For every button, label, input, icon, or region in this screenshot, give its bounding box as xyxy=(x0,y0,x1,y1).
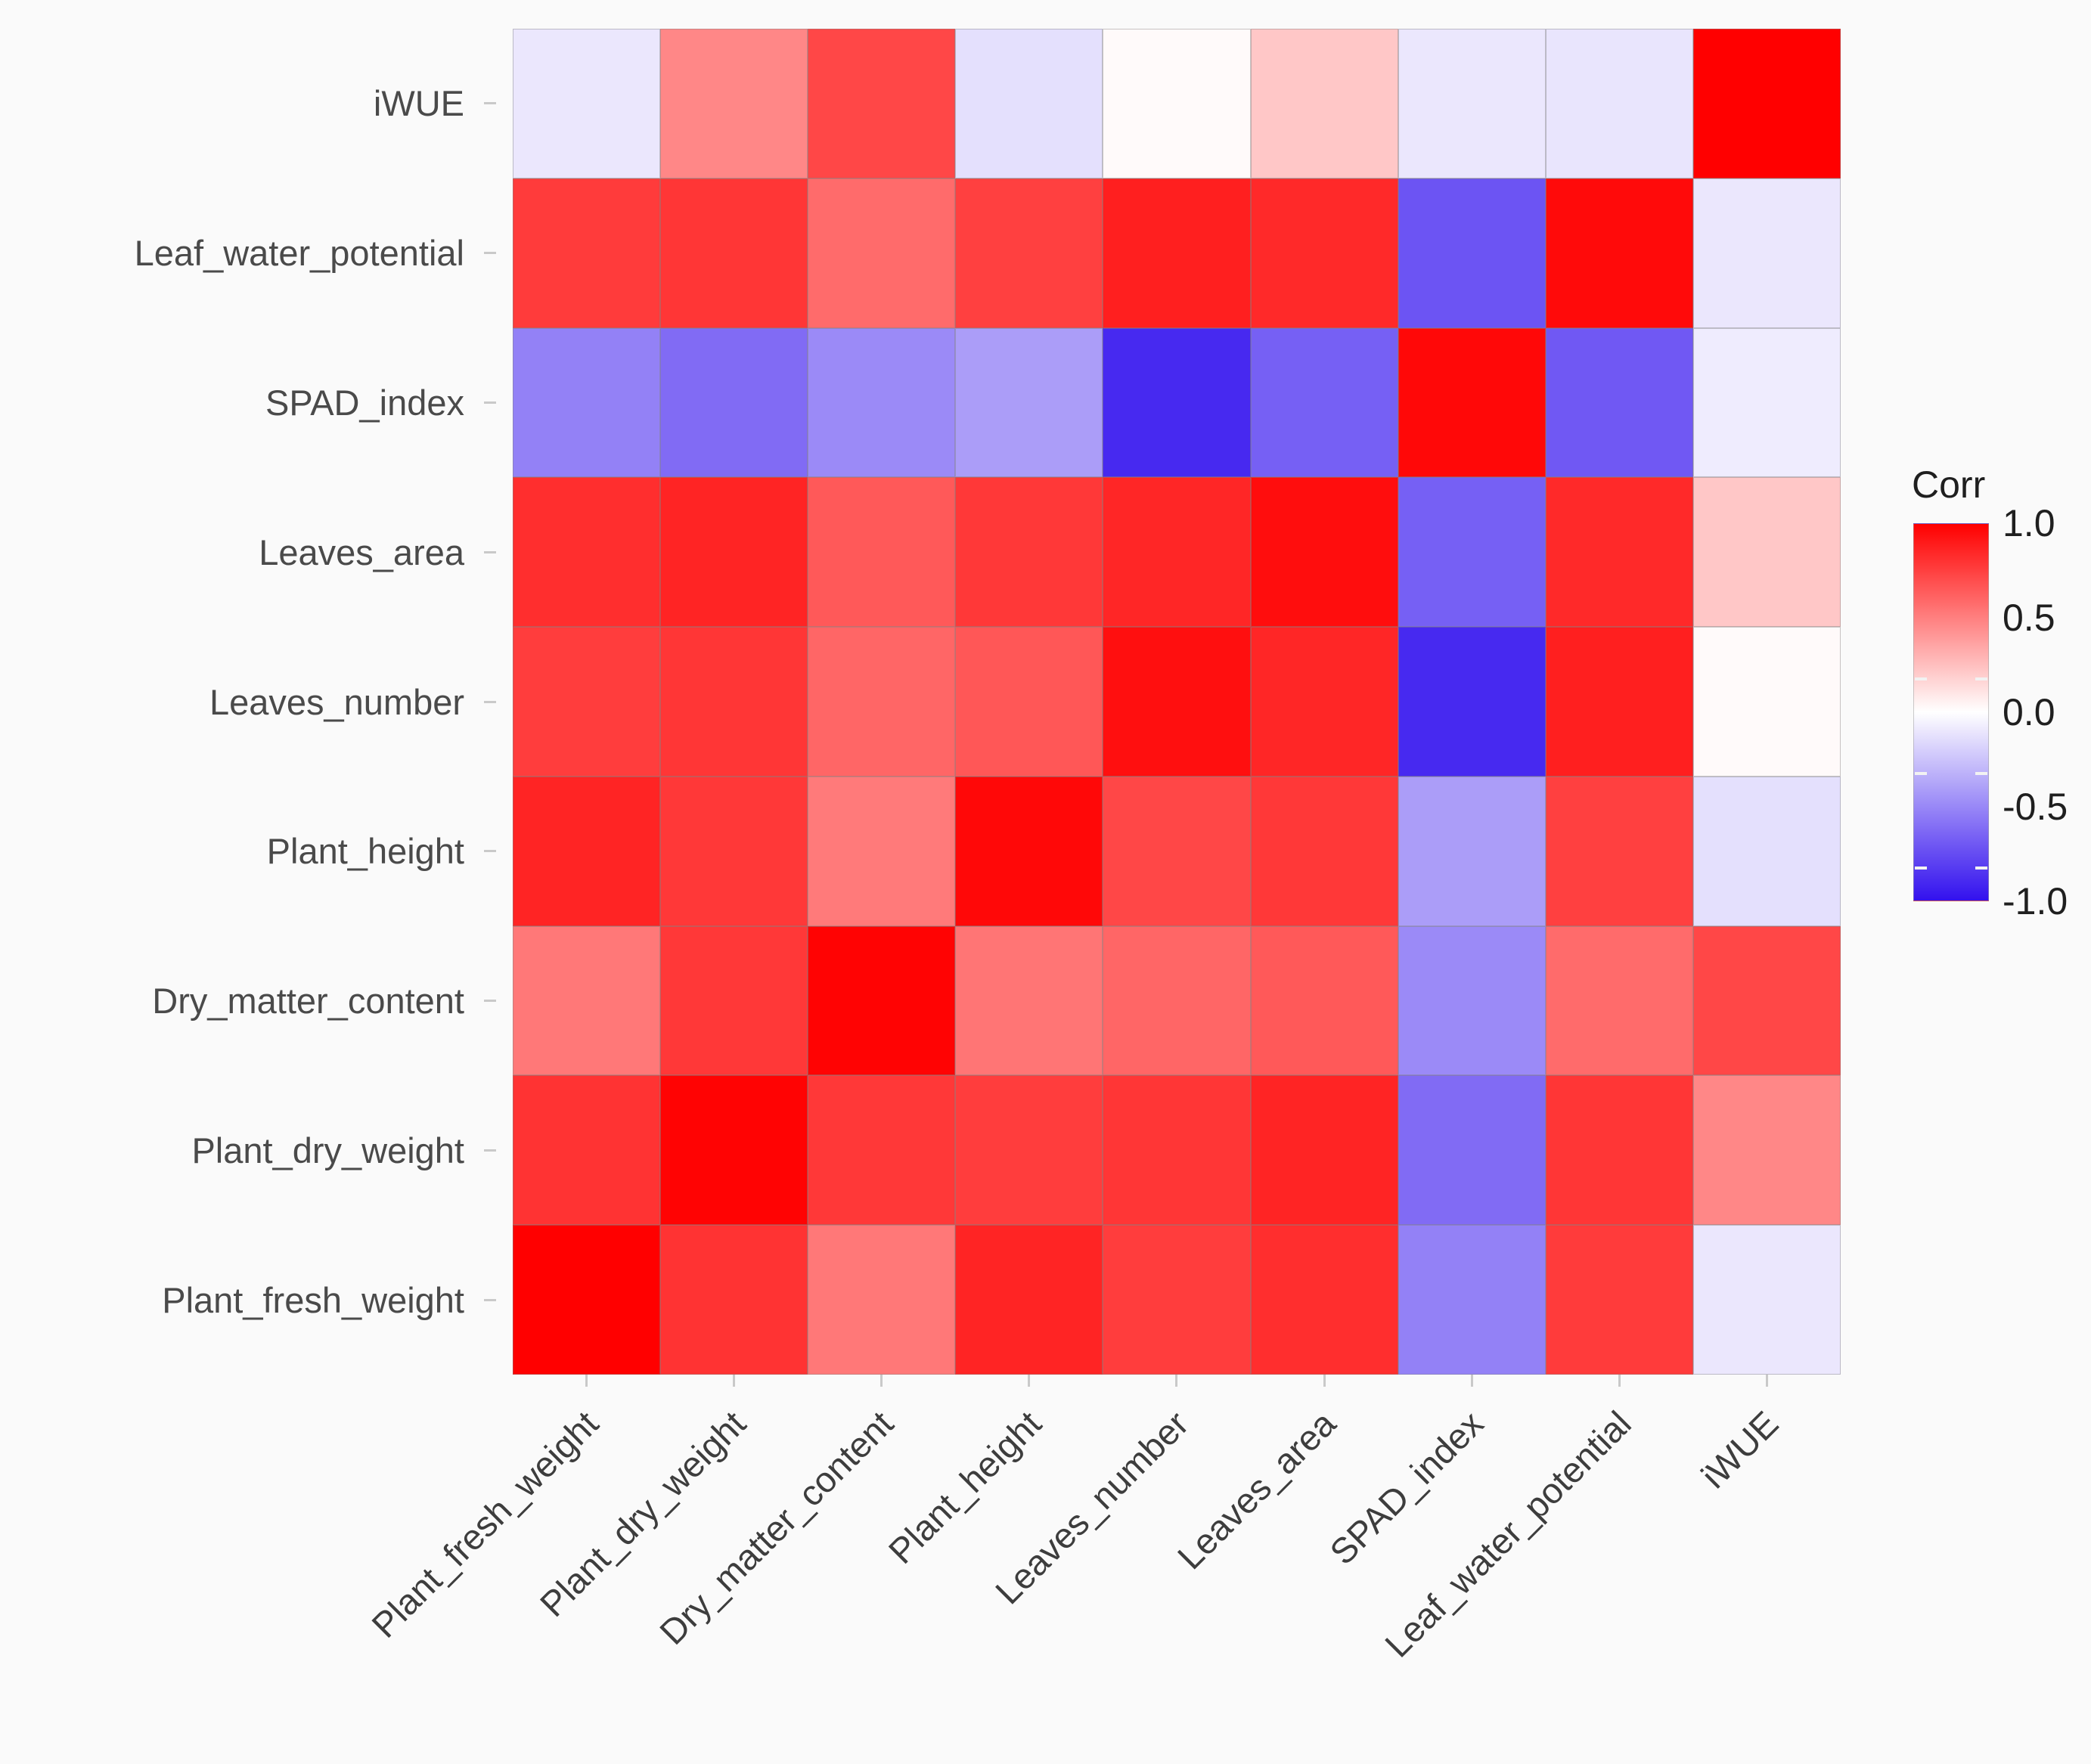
heatmap-cell xyxy=(1693,627,1841,777)
x-axis-tick-slot xyxy=(1251,1375,1398,1397)
x-axis-tick-slot xyxy=(1693,1375,1841,1397)
y-axis-tick-slot xyxy=(484,477,513,627)
heatmap-cell xyxy=(1103,1225,1250,1375)
x-axis-tick-slot xyxy=(1546,1375,1693,1397)
legend-tick-mark xyxy=(1915,677,1927,680)
y-axis-label: Leaves_number xyxy=(0,627,484,777)
legend-tick-label: 0.5 xyxy=(2003,596,2055,640)
heatmap-cell xyxy=(513,1075,660,1225)
heatmap-cell xyxy=(1251,1075,1398,1225)
heatmap-cell xyxy=(1251,777,1398,926)
heatmap-cell xyxy=(1103,29,1250,178)
heatmap-cell xyxy=(513,1225,660,1375)
heatmap-cell xyxy=(955,777,1103,926)
heatmap-cell xyxy=(1546,926,1693,1076)
heatmap-cell xyxy=(808,627,955,777)
heatmap-cell xyxy=(808,926,955,1076)
heatmap-panel xyxy=(513,29,1841,1375)
legend-tick-mark xyxy=(1975,866,1987,870)
heatmap-cell xyxy=(1103,477,1250,627)
x-axis-label-slot: iWUE xyxy=(1767,1397,1914,1412)
heatmap-cell xyxy=(513,29,660,178)
heatmap-cell xyxy=(660,178,808,328)
chart-canvas: iWUELeaf_water_potentialSPAD_indexLeaves… xyxy=(0,0,2091,1764)
heatmap-cell xyxy=(660,1225,808,1375)
y-axis-tick-slot xyxy=(484,1225,513,1375)
heatmap-cell xyxy=(1251,1225,1398,1375)
x-axis-tick xyxy=(1766,1375,1768,1387)
legend: Corr 1.00.50.0-0.5-1.0 xyxy=(1912,463,2086,916)
x-axis-tick xyxy=(1323,1375,1326,1387)
y-axis-label: Leaf_water_potential xyxy=(0,178,484,328)
heatmap-cell xyxy=(955,1075,1103,1225)
heatmap-cell xyxy=(808,1225,955,1375)
x-axis-tick-slot xyxy=(513,1375,660,1397)
heatmap-cell xyxy=(955,178,1103,328)
x-axis-label-slot: Leaf_water_potential xyxy=(1619,1397,1767,1412)
heatmap-cell xyxy=(1693,1225,1841,1375)
legend-tick-mark xyxy=(1915,866,1927,870)
heatmap-cell xyxy=(1546,627,1693,777)
heatmap-cell xyxy=(1103,328,1250,478)
x-axis-label-slot: SPAD_index xyxy=(1472,1397,1619,1412)
heatmap-cell xyxy=(1693,477,1841,627)
heatmap-cell xyxy=(1251,627,1398,777)
heatmap-cell xyxy=(513,777,660,926)
x-axis-label-slot: Dry_matter_content xyxy=(882,1397,1029,1412)
x-axis-label-slot: Plant_fresh_weight xyxy=(587,1397,734,1412)
y-axis-tick xyxy=(484,252,496,254)
heatmap-cell xyxy=(955,926,1103,1076)
heatmap-cell xyxy=(1103,926,1250,1076)
heatmap-cell xyxy=(1693,178,1841,328)
heatmap-cell xyxy=(1398,777,1546,926)
heatmap-cell xyxy=(955,328,1103,478)
heatmap-cell xyxy=(1251,178,1398,328)
x-axis-tick-slot xyxy=(660,1375,808,1397)
y-axis-label: Plant_height xyxy=(0,777,484,926)
y-axis-tick-slot xyxy=(484,1075,513,1225)
x-axis-tick xyxy=(1471,1375,1473,1387)
y-axis-tick-slot xyxy=(484,777,513,926)
x-axis-label-slot: Leaves_number xyxy=(1177,1397,1324,1412)
legend-title: Corr xyxy=(1912,463,1985,507)
x-axis-tick-slot xyxy=(1398,1375,1546,1397)
y-axis-tick xyxy=(484,1000,496,1002)
y-axis-label: Plant_dry_weight xyxy=(0,1075,484,1225)
heatmap-cell xyxy=(1251,926,1398,1076)
legend-tick-mark xyxy=(1975,772,1987,775)
y-axis-tick xyxy=(484,1149,496,1152)
x-axis-labels: Plant_fresh_weightPlant_dry_weightDry_ma… xyxy=(513,1397,1841,1745)
heatmap-cell xyxy=(1398,926,1546,1076)
legend-tick-label: -1.0 xyxy=(2003,879,2068,923)
x-axis-tick xyxy=(1175,1375,1177,1387)
x-axis-tick-slot xyxy=(955,1375,1103,1397)
x-axis-ticks xyxy=(513,1375,1841,1397)
heatmap-cell xyxy=(513,477,660,627)
y-axis-tick xyxy=(484,551,496,553)
heatmap-cell xyxy=(660,627,808,777)
heatmap-cell xyxy=(1693,926,1841,1076)
legend-colorbar xyxy=(1913,523,1989,901)
heatmap-cell xyxy=(1693,29,1841,178)
x-axis-tick xyxy=(585,1375,588,1387)
heatmap-cell xyxy=(808,178,955,328)
y-axis-tick xyxy=(484,850,496,852)
heatmap-cell xyxy=(1693,777,1841,926)
heatmap-cell xyxy=(660,477,808,627)
heatmap-cell xyxy=(1103,1075,1250,1225)
heatmap-cell xyxy=(808,477,955,627)
heatmap-cell xyxy=(513,627,660,777)
heatmap-cell xyxy=(955,1225,1103,1375)
heatmap-cell xyxy=(660,926,808,1076)
legend-tick-mark xyxy=(1915,772,1927,775)
x-axis-tick xyxy=(733,1375,735,1387)
x-axis-label-slot: Plant_dry_weight xyxy=(734,1397,882,1412)
x-axis-tick-slot xyxy=(808,1375,955,1397)
x-axis-tick xyxy=(1028,1375,1030,1387)
y-axis-ticks xyxy=(484,29,513,1375)
heatmap-cell xyxy=(1251,29,1398,178)
x-axis-tick-slot xyxy=(1103,1375,1250,1397)
heatmap-cell xyxy=(808,328,955,478)
heatmap-cell xyxy=(955,29,1103,178)
heatmap-cell xyxy=(1693,328,1841,478)
y-axis-tick-slot xyxy=(484,926,513,1076)
heatmap-cell xyxy=(808,1075,955,1225)
heatmap-cell xyxy=(1398,627,1546,777)
y-axis-label: SPAD_index xyxy=(0,328,484,478)
y-axis-labels: iWUELeaf_water_potentialSPAD_indexLeaves… xyxy=(0,29,484,1375)
heatmap-cell xyxy=(955,627,1103,777)
heatmap-cell xyxy=(1251,328,1398,478)
heatmap-cell xyxy=(660,29,808,178)
heatmap-cell xyxy=(1103,627,1250,777)
heatmap-cell xyxy=(1251,477,1398,627)
y-axis-tick xyxy=(484,701,496,703)
heatmap-cell xyxy=(1398,178,1546,328)
x-axis-label-slot: Leaves_area xyxy=(1324,1397,1472,1412)
x-axis-tick xyxy=(880,1375,883,1387)
y-axis-tick-slot xyxy=(484,178,513,328)
y-axis-tick-slot xyxy=(484,29,513,178)
y-axis-label: Leaves_area xyxy=(0,477,484,627)
heatmap-cell xyxy=(1693,1075,1841,1225)
heatmap-cell xyxy=(1398,328,1546,478)
y-axis-tick-slot xyxy=(484,328,513,478)
x-axis-label-slot: Plant_height xyxy=(1029,1397,1177,1412)
y-axis-label: iWUE xyxy=(0,29,484,178)
heatmap-cell xyxy=(1398,1225,1546,1375)
heatmap-cell xyxy=(1546,29,1693,178)
heatmap-cell xyxy=(1398,477,1546,627)
heatmap-cell xyxy=(808,777,955,926)
heatmap-cell xyxy=(1398,1075,1546,1225)
heatmap-cell xyxy=(513,926,660,1076)
y-axis-tick xyxy=(484,1299,496,1301)
heatmap-cell xyxy=(1546,477,1693,627)
heatmap-cell xyxy=(1398,29,1546,178)
heatmap-cell xyxy=(513,178,660,328)
y-axis-label: Plant_fresh_weight xyxy=(0,1225,484,1375)
y-axis-tick xyxy=(484,401,496,404)
x-axis-label: Leaf_water_potential xyxy=(1379,1397,1645,1663)
y-axis-tick-slot xyxy=(484,627,513,777)
heatmap-cell xyxy=(1546,328,1693,478)
heatmap-grid xyxy=(513,29,1841,1375)
y-axis-tick xyxy=(484,102,496,104)
legend-tick-mark xyxy=(1975,677,1987,680)
legend-tick-label: 0.0 xyxy=(2003,690,2055,734)
heatmap-cell xyxy=(660,1075,808,1225)
y-axis-label: Dry_matter_content xyxy=(0,926,484,1076)
heatmap-cell xyxy=(955,477,1103,627)
heatmap-cell xyxy=(1546,777,1693,926)
heatmap-cell xyxy=(1103,178,1250,328)
heatmap-cell xyxy=(1546,178,1693,328)
heatmap-cell xyxy=(513,328,660,478)
heatmap-cell xyxy=(1546,1225,1693,1375)
heatmap-cell xyxy=(808,29,955,178)
legend-tick-label: 1.0 xyxy=(2003,501,2055,545)
x-axis-tick xyxy=(1618,1375,1621,1387)
heatmap-cell xyxy=(660,328,808,478)
heatmap-cell xyxy=(660,777,808,926)
legend-tick-label: -0.5 xyxy=(2003,785,2068,829)
heatmap-cell xyxy=(1546,1075,1693,1225)
heatmap-cell xyxy=(1103,777,1250,926)
